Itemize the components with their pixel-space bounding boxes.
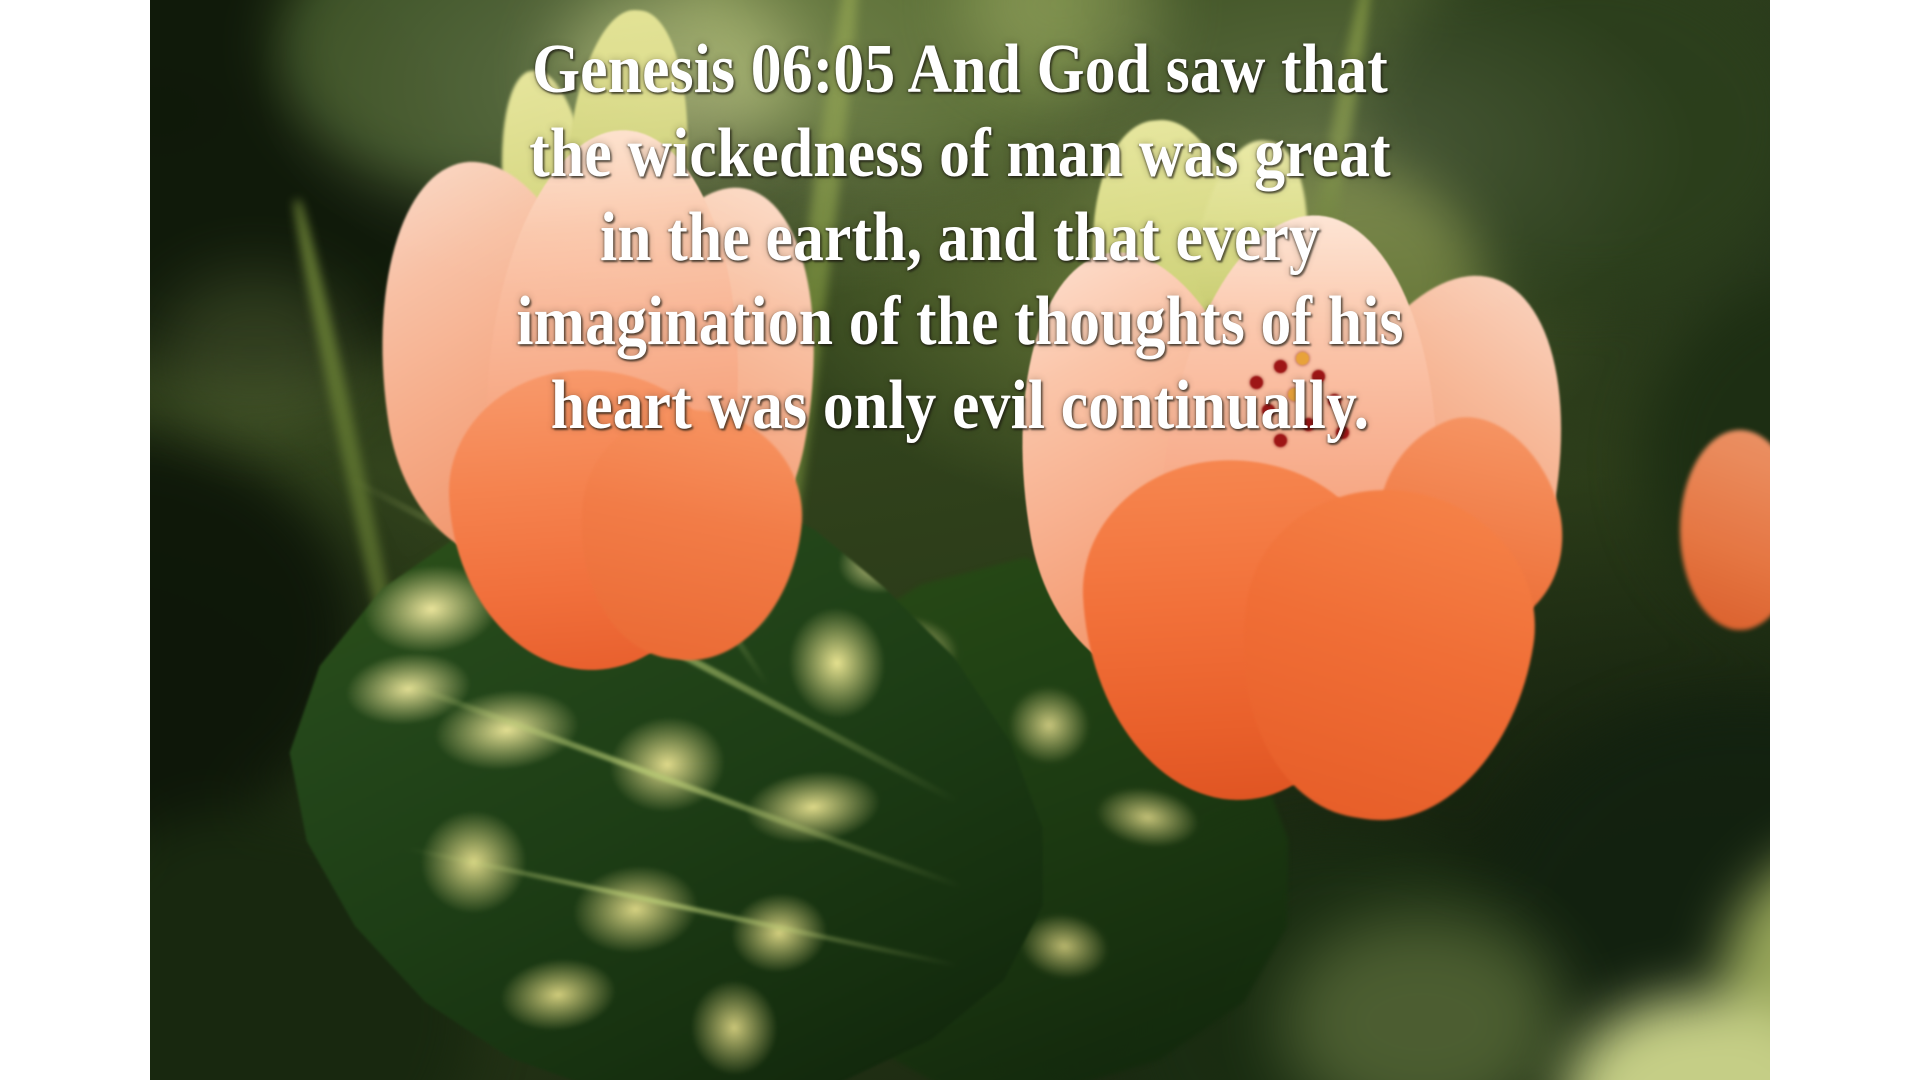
stamen-cluster (1240, 348, 1370, 468)
flower-blossom-right (910, 120, 1590, 820)
petal-edge-sliver (1680, 430, 1770, 630)
slide-canvas: Genesis 06:05 And God saw that the wicke… (0, 0, 1920, 1080)
flower-blossom-left (300, 10, 860, 650)
background-photograph: Genesis 06:05 And God saw that the wicke… (150, 0, 1770, 1080)
